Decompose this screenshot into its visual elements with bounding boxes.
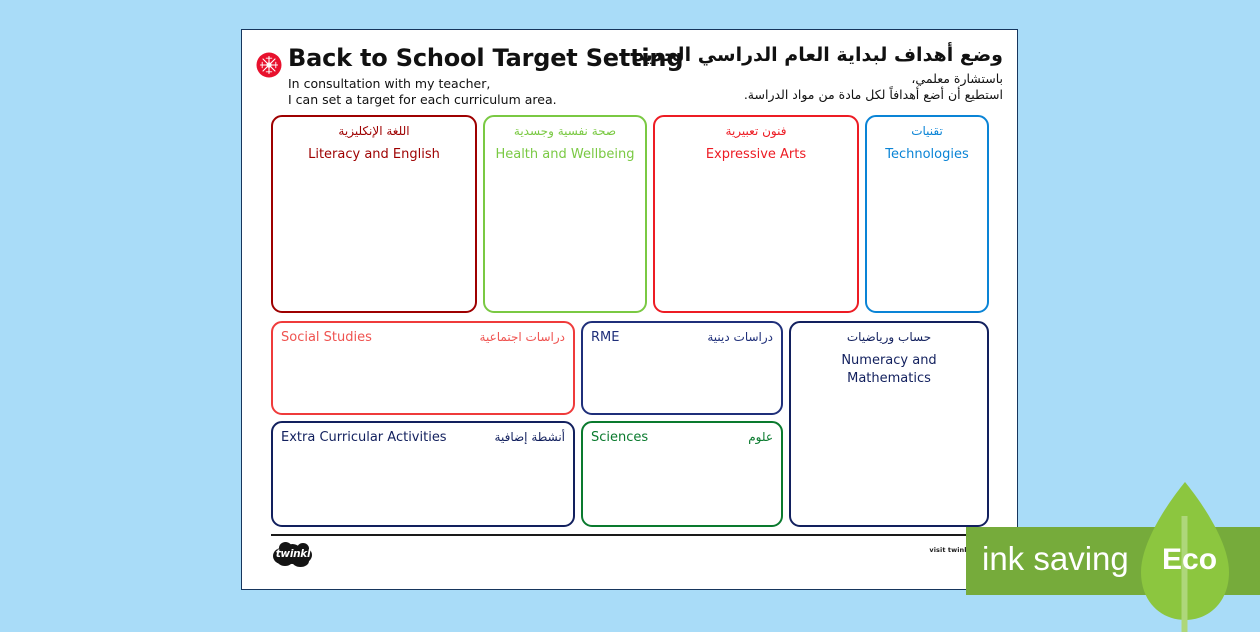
arabic-header-block: وضع أهداف لبداية العام الدراسي الجديد با… — [623, 44, 1003, 103]
card-health-and-wellbeing[interactable]: صحة نفسية وجسدية Health and Wellbeing — [483, 115, 647, 313]
arabic-page-title: وضع أهداف لبداية العام الدراسي الجديد — [623, 44, 1003, 67]
arabic-subtitle-line-1: باستشارة معلمي، — [623, 71, 1003, 87]
card-label-arabic: دراسات اجتماعية — [480, 329, 565, 345]
card-literacy-and-english[interactable]: اللغة الإنكليزية Literacy and English — [271, 115, 477, 313]
arabic-subtitle-block: باستشارة معلمي، استطيع أن أضع أهدافاً لك… — [623, 71, 1003, 104]
ink-saving-eco-watermark: ink saving Eco — [966, 527, 1260, 595]
eco-text: Eco — [1162, 543, 1217, 577]
card-label-english: Numeracy and Mathematics — [799, 352, 979, 387]
card-header: اللغة الإنكليزية Literacy and English — [273, 117, 475, 164]
card-label-arabic: اللغة الإنكليزية — [281, 123, 467, 139]
card-label-arabic: تقنيات — [875, 123, 979, 139]
card-label-arabic: صحة نفسية وجسدية — [493, 123, 637, 139]
twinkl-logo[interactable]: twinkl — [271, 541, 315, 567]
card-header: Extra Curricular Activities أنشطة إضافية — [273, 423, 573, 447]
twinkl-wordmark: twinkl — [271, 541, 315, 567]
footer-divider — [271, 534, 989, 536]
card-header: تقنيات Technologies — [867, 117, 987, 164]
worksheet-header: Back to School Target Setting In consult… — [242, 30, 1017, 108]
card-numeracy-and-mathematics[interactable]: حساب ورياضيات Numeracy and Mathematics — [789, 321, 989, 527]
card-label-english: Literacy and English — [281, 146, 467, 164]
card-label-english: Sciences — [591, 429, 648, 447]
card-label-arabic: دراسات دينية — [707, 329, 773, 345]
card-social-studies[interactable]: Social Studies دراسات اجتماعية — [271, 321, 575, 415]
card-sciences[interactable]: Sciences علوم — [581, 421, 783, 527]
card-label-arabic: علوم — [748, 429, 773, 445]
ink-saving-text: ink saving — [982, 540, 1129, 578]
card-header: صحة نفسية وجسدية Health and Wellbeing — [485, 117, 645, 164]
card-label-arabic: فنون تعبيرية — [663, 123, 849, 139]
card-label-english: Expressive Arts — [663, 146, 849, 164]
card-header: Sciences علوم — [583, 423, 781, 447]
red-snowflake-badge-icon — [256, 52, 282, 78]
curriculum-cards-area: اللغة الإنكليزية Literacy and English صح… — [271, 115, 989, 527]
card-technologies[interactable]: تقنيات Technologies — [865, 115, 989, 313]
card-label-arabic: حساب ورياضيات — [799, 329, 979, 345]
card-label-arabic: أنشطة إضافية — [495, 429, 565, 445]
card-header: Social Studies دراسات اجتماعية — [273, 323, 573, 347]
card-label-english: Technologies — [875, 146, 979, 164]
card-extra-curricular-activities[interactable]: Extra Curricular Activities أنشطة إضافية — [271, 421, 575, 527]
card-expressive-arts[interactable]: فنون تعبيرية Expressive Arts — [653, 115, 859, 313]
card-rme[interactable]: RME دراسات دينية — [581, 321, 783, 415]
card-label-english: RME — [591, 329, 619, 347]
card-header: فنون تعبيرية Expressive Arts — [655, 117, 857, 164]
arabic-subtitle-line-2: استطيع أن أضع أهدافاً لكل مادة من مواد ا… — [623, 87, 1003, 103]
card-label-english: Health and Wellbeing — [493, 146, 637, 164]
worksheet-page: Back to School Target Setting In consult… — [241, 29, 1018, 590]
card-label-english: Social Studies — [281, 329, 372, 347]
card-header: RME دراسات دينية — [583, 323, 781, 347]
card-header: حساب ورياضيات Numeracy and Mathematics — [791, 323, 987, 387]
card-label-english: Extra Curricular Activities — [281, 429, 447, 447]
